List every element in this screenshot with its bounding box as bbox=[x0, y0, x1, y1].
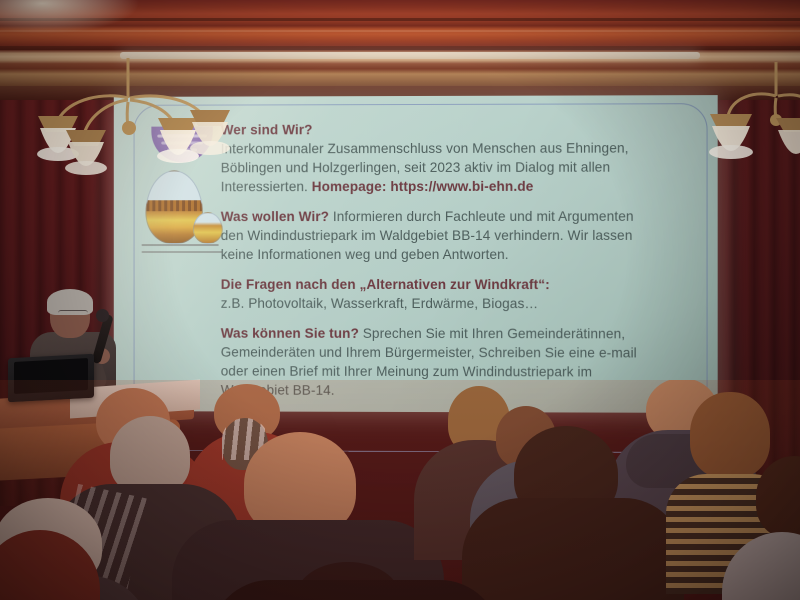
presentation-room-photo: Wer sind Wir? Interkommunaler Zusammensc… bbox=[0, 0, 800, 600]
logo-caption-line bbox=[141, 244, 218, 246]
slide-heading: Die Fragen nach den „Alternativen zur Wi… bbox=[221, 275, 704, 294]
microphone-head-icon bbox=[96, 309, 109, 322]
slide-line-text: Sprechen Sie mit Ihren Gemeinderätinnen, bbox=[359, 326, 625, 341]
slide-line: z.B. Photovoltaik, Wasserkraft, Erdwärme… bbox=[221, 294, 704, 314]
chandelier-right bbox=[706, 62, 800, 182]
slide-homepage-link: Homepage: https://www.bi-ehn.de bbox=[312, 179, 534, 194]
slide-line: Interessierten. Homepage: https://www.bi… bbox=[221, 177, 704, 197]
slide-block-die-fragen: Die Fragen nach den „Alternativen zur Wi… bbox=[221, 275, 704, 313]
slide-line: Gemeinderäten und Ihrem Bürgermeister, S… bbox=[221, 343, 704, 363]
ceiling-light-glow bbox=[0, 0, 140, 34]
slide-block-wer-sind-wir: Wer sind Wir? Interkommunaler Zusammensc… bbox=[221, 119, 704, 196]
slide-line: Was wollen Wir? Informieren durch Fachle… bbox=[221, 207, 704, 226]
slide-line: Böblingen und Holzgerlingen, seit 2023 a… bbox=[221, 158, 704, 178]
audience bbox=[0, 380, 800, 600]
slide-text-content: Wer sind Wir? Interkommunaler Zusammensc… bbox=[221, 119, 704, 412]
slide-heading: Was können Sie tun? bbox=[221, 326, 359, 341]
slide-line: den Windindustriepark im Waldgebiet BB-1… bbox=[221, 226, 704, 245]
slide-line: Was können Sie tun? Sprechen Sie mit Ihr… bbox=[221, 324, 704, 344]
ceiling-beam bbox=[0, 46, 800, 50]
slide-line-text: Informieren durch Fachleute und mit Argu… bbox=[329, 209, 634, 224]
slide-line: Interkommunaler Zusammenschluss von Mens… bbox=[221, 138, 704, 158]
logo-caption-line bbox=[141, 251, 222, 253]
chandelier-left bbox=[10, 58, 250, 188]
slide-block-was-wollen-wir: Was wollen Wir? Informieren durch Fachle… bbox=[221, 207, 704, 264]
glasses-icon bbox=[58, 310, 88, 318]
slide-heading: Wer sind Wir? bbox=[221, 119, 704, 139]
slide-line: keine Informationen weg und geben Antwor… bbox=[221, 245, 704, 264]
logo-forest-oval-small bbox=[193, 212, 223, 244]
slide-heading: Was wollen Wir? bbox=[221, 209, 329, 224]
